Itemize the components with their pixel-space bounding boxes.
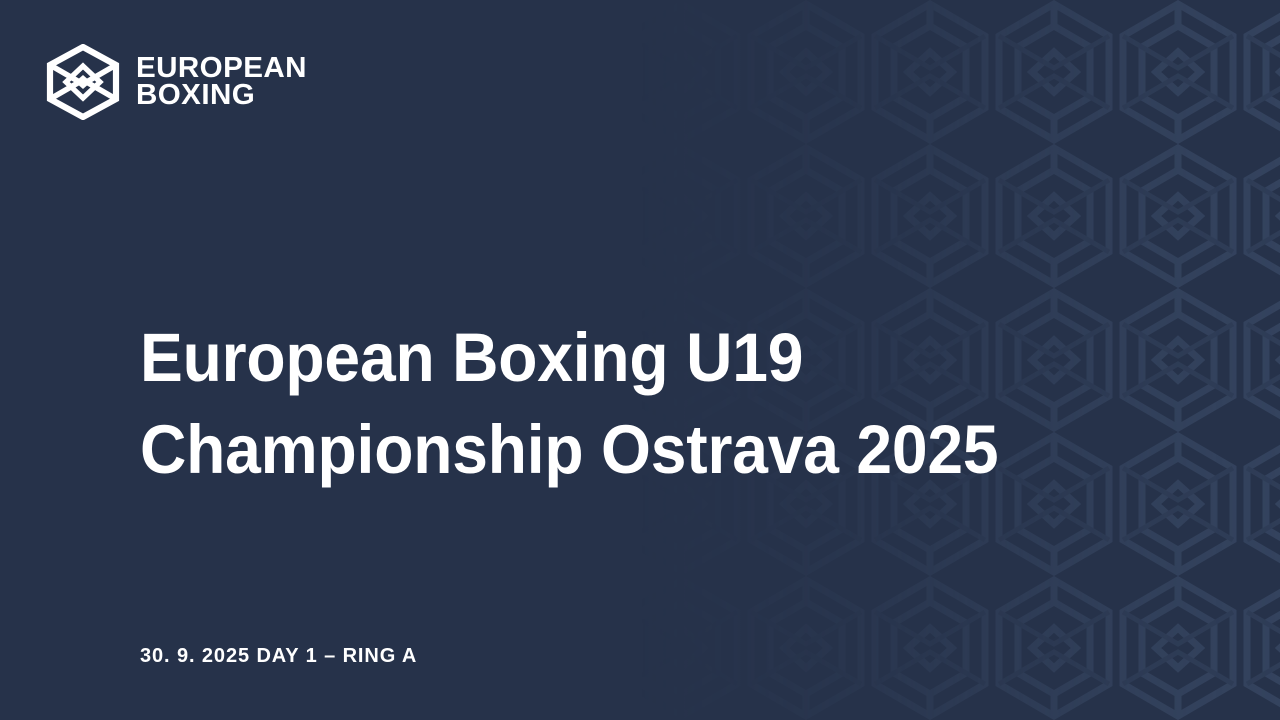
- event-title-line1: European Boxing U19: [140, 312, 1154, 404]
- logo-wordmark-line2: BOXING: [136, 82, 307, 109]
- logo-wordmark: EUROPEAN BOXING: [136, 55, 304, 110]
- broadcast-title-slide: EUROPEAN BOXING European Boxing U19 Cham…: [0, 0, 1280, 720]
- logo-wordmark-line1: EUROPEAN: [136, 55, 307, 82]
- hexagon-diamond-logo-icon: [44, 44, 122, 120]
- event-title: European Boxing U19 Championship Ostrava…: [140, 312, 1230, 496]
- session-caption: 30. 9. 2025 DAY 1 – RING A: [140, 645, 417, 668]
- event-title-line2: Championship Ostrava 2025: [140, 404, 1154, 496]
- european-boxing-logo: EUROPEAN BOXING: [44, 44, 304, 120]
